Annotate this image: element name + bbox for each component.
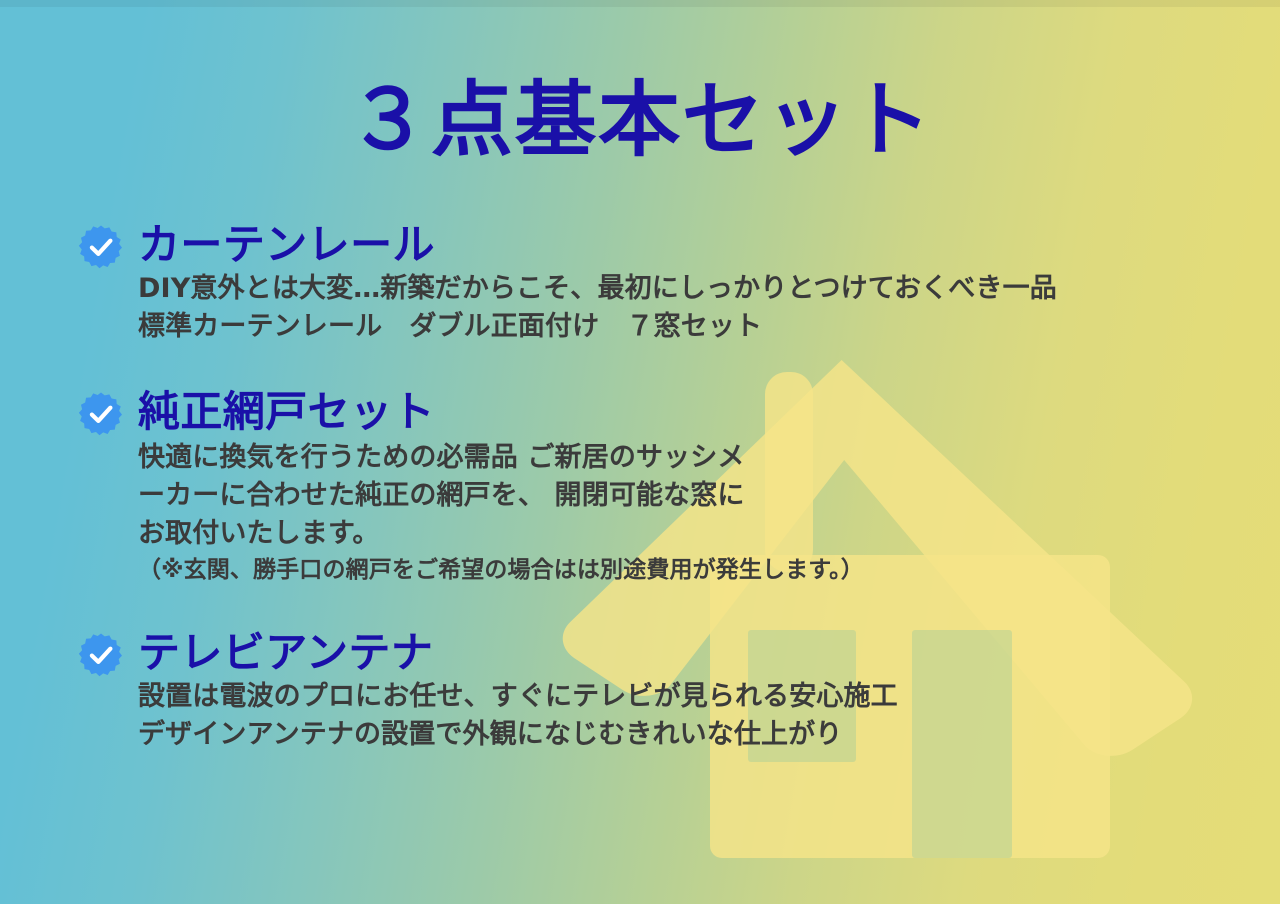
poster-canvas: ３点基本セット カーテンレール DIY意外とは大変…新築だからこそ、最初にしっか… xyxy=(0,0,1280,904)
verified-check-icon xyxy=(78,632,124,678)
feature-heading-row: テレビアンテナ xyxy=(78,630,1238,676)
feature-line: DIY意外とは大変…新築だからこそ、最初にしっかりとつけておくべき一品 xyxy=(138,270,1238,308)
feature-item-screen-door-set: 純正網戸セット 快適に換気を行うための必需品 ご新居のサッシメ ーカーに合わせた… xyxy=(78,389,1238,586)
feature-line: お取付いたします。 xyxy=(138,515,1238,553)
top-edge-band xyxy=(0,0,1280,7)
feature-title: 純正網戸セット xyxy=(138,389,435,434)
feature-note: （※玄関、勝手口の網戸をご希望の場合はは別途費用が発生します。） xyxy=(138,556,1238,586)
feature-description: 設置は電波のプロにお任せ、すぐにテレビが見られる安心施工 デザインアンテナの設置… xyxy=(138,678,1238,755)
verified-check-icon xyxy=(78,391,124,437)
feature-line: 設置は電波のプロにお任せ、すぐにテレビが見られる安心施工 xyxy=(138,678,1238,716)
feature-list: カーテンレール DIY意外とは大変…新築だからこそ、最初にしっかりとつけておくべ… xyxy=(78,222,1238,754)
feature-line: 快適に換気を行うための必需品 ご新居のサッシメ xyxy=(138,439,1238,477)
feature-heading-row: 純正網戸セット xyxy=(78,389,1238,435)
feature-description: 快適に換気を行うための必需品 ご新居のサッシメ ーカーに合わせた純正の網戸を、 … xyxy=(138,439,1238,586)
feature-item-tv-antenna: テレビアンテナ 設置は電波のプロにお任せ、すぐにテレビが見られる安心施工 デザイ… xyxy=(78,630,1238,755)
page-title: ３点基本セット xyxy=(0,78,1280,164)
feature-title: カーテンレール xyxy=(138,222,435,267)
feature-item-curtain-rail: カーテンレール DIY意外とは大変…新築だからこそ、最初にしっかりとつけておくべ… xyxy=(78,222,1238,347)
feature-heading-row: カーテンレール xyxy=(78,222,1238,268)
feature-title: テレビアンテナ xyxy=(138,630,433,675)
feature-line: 標準カーテンレール ダブル正面付け ７窓セット xyxy=(138,308,1238,346)
feature-description: DIY意外とは大変…新築だからこそ、最初にしっかりとつけておくべき一品 標準カー… xyxy=(138,270,1238,347)
feature-line: デザインアンテナの設置で外観になじむきれいな仕上がり xyxy=(138,716,1238,754)
verified-check-icon xyxy=(78,224,124,270)
feature-line: ーカーに合わせた純正の網戸を、 開閉可能な窓に xyxy=(138,477,1238,515)
